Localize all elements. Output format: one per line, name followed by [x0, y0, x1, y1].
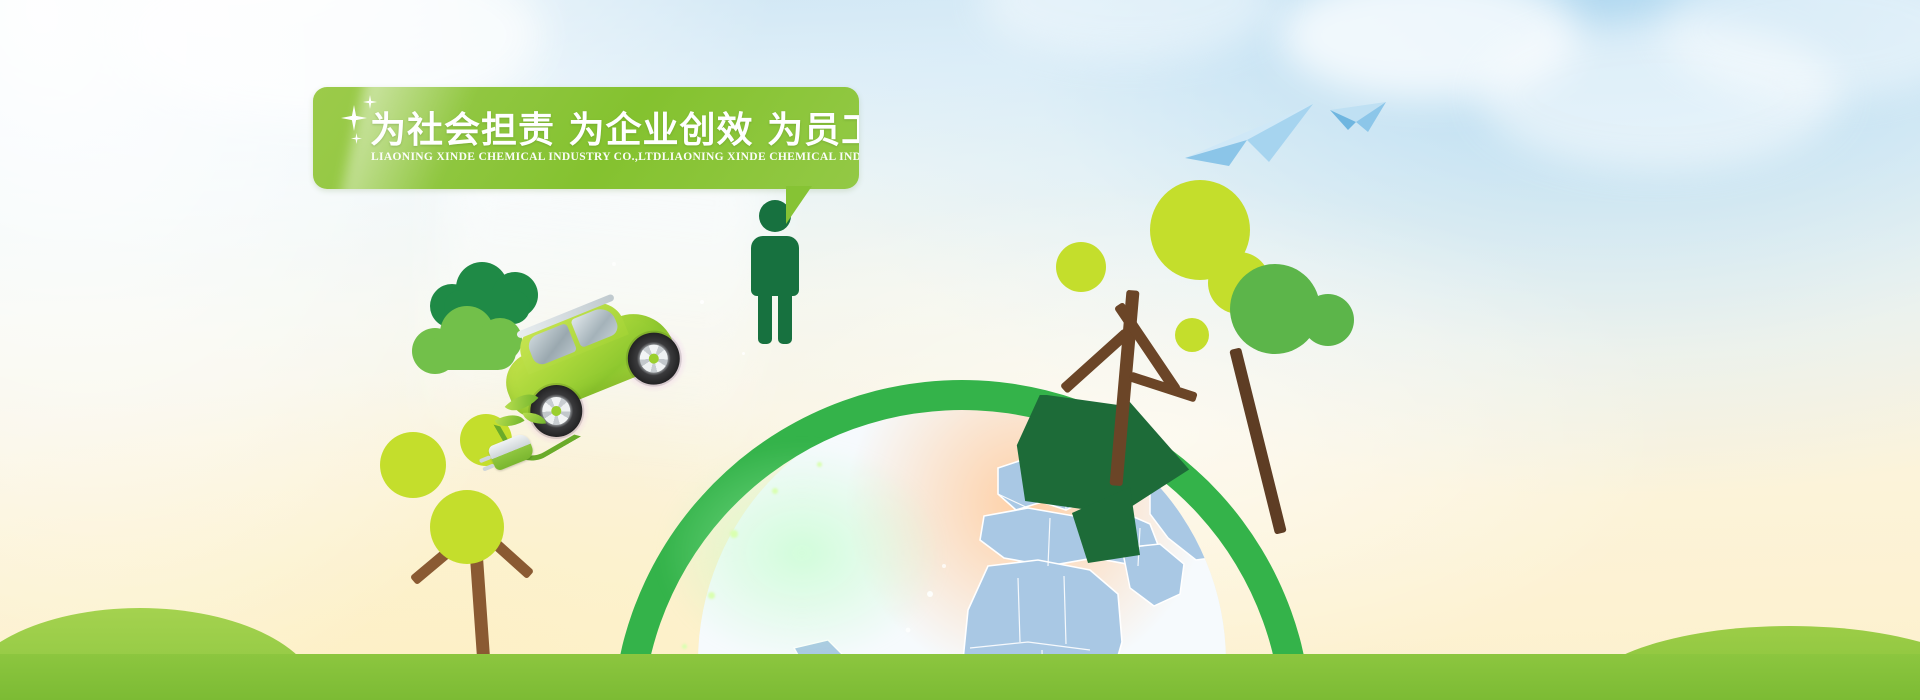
- ring-sparkle-dot: [708, 592, 715, 599]
- speech-bubble-tail-icon: [786, 186, 812, 224]
- message-bubble: 为社会担责 为企业创效 为员工造福 LIAONING XINDE CHEMICA…: [313, 87, 859, 189]
- paper-plane-small-icon: [1330, 100, 1388, 141]
- person-body: [751, 236, 799, 296]
- sparkle-dot: [742, 352, 745, 355]
- sparkle-dot: [612, 262, 616, 266]
- banner-subtitle: LIAONING XINDE CHEMICAL INDUSTRY CO.,LTD…: [371, 151, 859, 163]
- ring-sparkle-dot: [730, 530, 738, 538]
- ring-sparkle-dot: [817, 462, 822, 467]
- tree-trunk: [1229, 347, 1287, 534]
- ring-sparkle-glow: [652, 438, 952, 668]
- sparkle-dot: [700, 300, 704, 304]
- banner-headline: 为社会担责 为企业创效 为员工造福: [370, 101, 859, 153]
- ring-sparkle-dot: [682, 644, 687, 649]
- tree-foliage: [430, 490, 504, 564]
- paper-plane-large-icon: [1185, 100, 1315, 175]
- person-leg-right: [778, 288, 792, 344]
- ring-sparkle-dot: [772, 488, 778, 494]
- tree-foliage: [1056, 242, 1106, 292]
- tree-lollipop-right: [1190, 250, 1370, 550]
- person-leg-left: [758, 288, 772, 344]
- eco-corporate-banner: 为社会担责 为企业创效 为员工造福 LIAONING XINDE CHEMICA…: [0, 0, 1920, 700]
- grass-ground-strip: [0, 654, 1920, 700]
- tree-foliage: [1302, 294, 1354, 346]
- tree-foliage: [380, 432, 446, 498]
